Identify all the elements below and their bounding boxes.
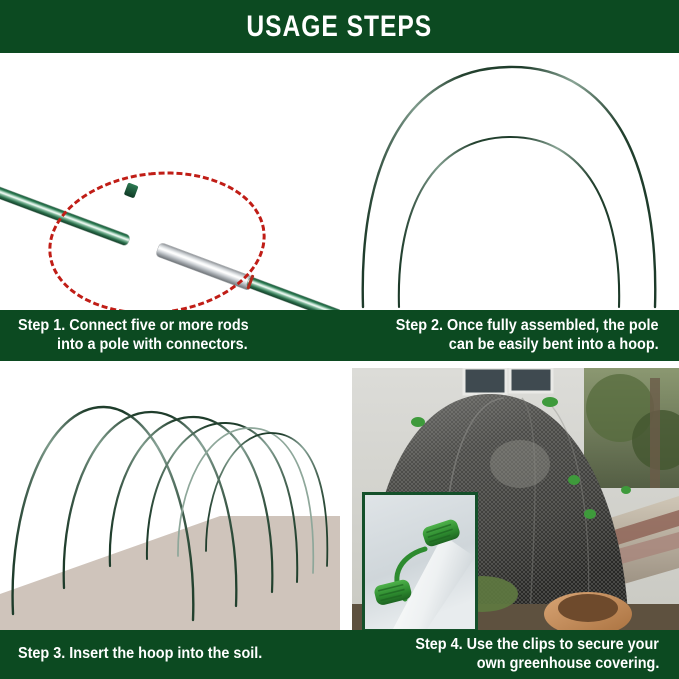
step-3-caption-line-1: Step 3. Insert the hoop into the soil. — [18, 645, 262, 664]
caption-row-bottom: Step 3. Insert the hoop into the soil. S… — [0, 630, 679, 679]
clip-closeup-inset — [362, 492, 478, 630]
step-4-caption-line-1: Step 4. Use the clips to secure your — [415, 636, 659, 655]
clip-on-cloth-5 — [621, 486, 631, 494]
pot-soil — [558, 594, 618, 622]
step-2-caption: Step 2. Once fully assembled, the pole c… — [341, 310, 679, 361]
step-1-caption-line-1: Step 1. Connect five or more rods — [18, 317, 249, 336]
step-2-caption-line-2: can be easily bent into a hoop. — [449, 336, 659, 355]
hoop-outer — [363, 67, 656, 307]
cloth-highlight — [490, 440, 550, 488]
page-title: USAGE STEPS — [247, 10, 433, 44]
step-1-illustration — [0, 55, 340, 310]
hoop-inner — [399, 137, 619, 307]
house-window-left — [464, 368, 506, 394]
step-2-illustration — [341, 55, 679, 310]
step-4-caption-line-2: own greenhouse covering. — [476, 655, 659, 674]
clip-on-cloth-3 — [568, 475, 580, 485]
clip-closeup-drawing — [365, 495, 475, 629]
step-3-caption: Step 3. Insert the hoop into the soil. — [0, 630, 340, 679]
usage-steps-infographic: USAGE STEPS — [0, 0, 679, 679]
step-2-caption-line-1: Step 2. Once fully assembled, the pole — [396, 317, 659, 336]
house-window-right — [510, 368, 552, 392]
hoops-in-soil-drawing — [0, 366, 340, 630]
step-1-caption-line-2: into a pole with connectors. — [18, 336, 248, 355]
step-4-caption: Step 4. Use the clips to secure your own… — [341, 630, 679, 679]
clip-on-cloth-2 — [542, 397, 558, 407]
caption-row-top: Step 1. Connect five or more rods into a… — [0, 310, 679, 361]
soil-ground-plane — [0, 516, 340, 630]
step-4-photo — [352, 368, 679, 630]
clip-on-cloth-4 — [584, 509, 596, 519]
dashed-highlight-ellipse — [41, 161, 273, 310]
header-banner: USAGE STEPS — [0, 0, 679, 53]
step-1-caption: Step 1. Connect five or more rods into a… — [0, 310, 340, 361]
clip-on-cloth-1 — [411, 417, 425, 427]
green-rod-right — [246, 276, 340, 310]
nested-hoops-drawing — [341, 55, 679, 310]
step-3-illustration — [0, 366, 340, 630]
tree-trunk — [650, 378, 660, 488]
